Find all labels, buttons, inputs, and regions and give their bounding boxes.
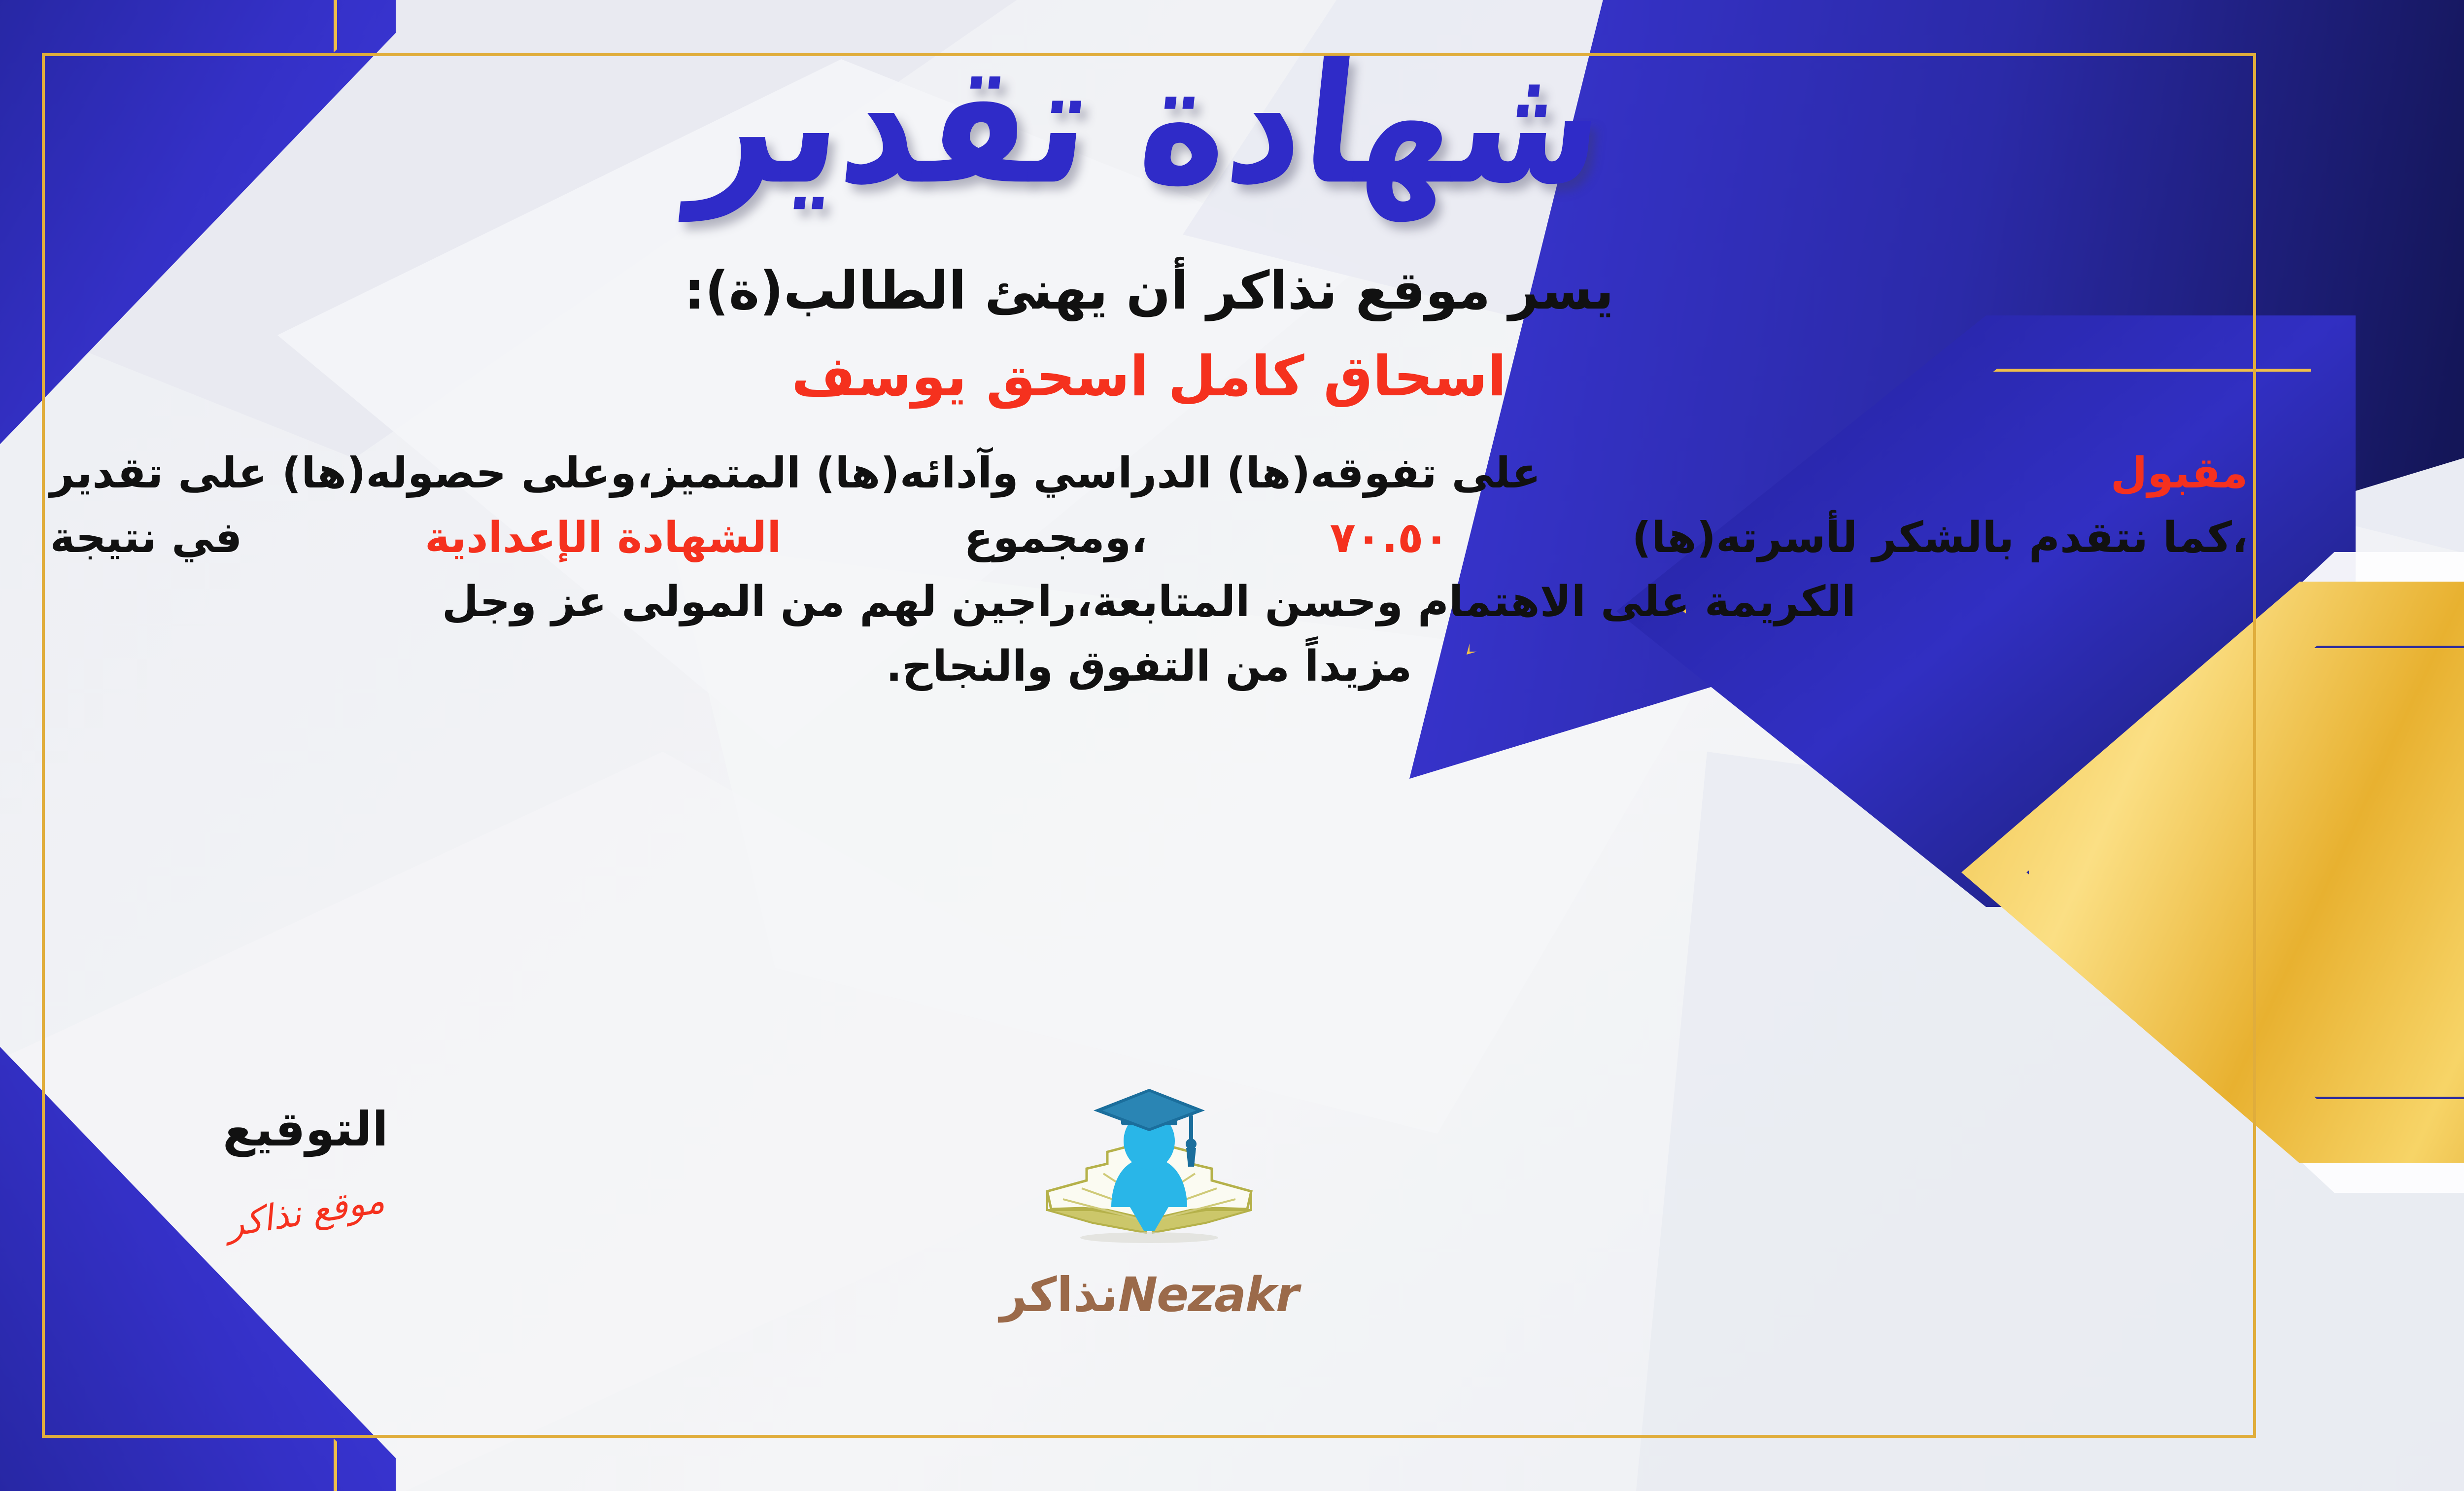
body-line-2: ،كما نتقدم بالشكر لأسرته(ها) ٧٠.٥٠ ،ومجم…	[50, 506, 2248, 570]
signature-script: موقع نذاكر	[224, 1179, 387, 1245]
brand-logo: Nezakrنذاكر	[962, 1087, 1336, 1322]
body-line-2-mid: ،ومجموع	[964, 506, 1147, 570]
certificate-footer: التوقيع موقع نذاكر	[0, 1087, 2464, 1402]
body-line-4: مزيداً من التفوق والنجاح.	[50, 634, 2248, 699]
logo-wordmark: Nezakrنذاكر	[962, 1267, 1336, 1322]
body-line-2-tail: ،كما نتقدم بالشكر لأسرته(ها)	[1632, 506, 2248, 570]
body-line-1: مقبول على تفوقه(ها) الدراسي وآدائه(ها) ا…	[50, 441, 2248, 506]
body-line-2-head: في نتيجة	[50, 506, 242, 570]
total-score: ٧٠.٥٠	[1330, 506, 1449, 570]
certificate-page: شهادة تقدير يسر موقع نذاكر أن يهنئ الطال…	[0, 0, 2464, 1491]
logo-name-arabic: نذاكر	[1000, 1267, 1118, 1322]
body-line-1-text: على تفوقه(ها) الدراسي وآدائه(ها) المتميز…	[50, 441, 1541, 506]
student-name: اسحاق كامل اسحق يوسف	[791, 345, 1506, 409]
certificate-body: مقبول على تفوقه(ها) الدراسي وآدائه(ها) ا…	[50, 441, 2248, 699]
logo-name-latin: Nezakr	[1118, 1267, 1298, 1322]
signature-label: التوقيع	[133, 1102, 478, 1157]
exam-name: الشهادة الإعدادية	[425, 506, 782, 570]
grade-value: مقبول	[2111, 441, 2248, 506]
graduation-book-icon	[1033, 1087, 1265, 1264]
signature-block: التوقيع موقع نذاكر	[133, 1102, 478, 1233]
certificate-title: شهادة تقدير	[686, 37, 1612, 211]
body-line-3: الكريمة على الاهتمام وحسن المتابعة،راجين…	[50, 570, 2248, 634]
greeting-line: يسر موقع نذاكر أن يهنئ الطالب(ة):	[684, 260, 1614, 321]
